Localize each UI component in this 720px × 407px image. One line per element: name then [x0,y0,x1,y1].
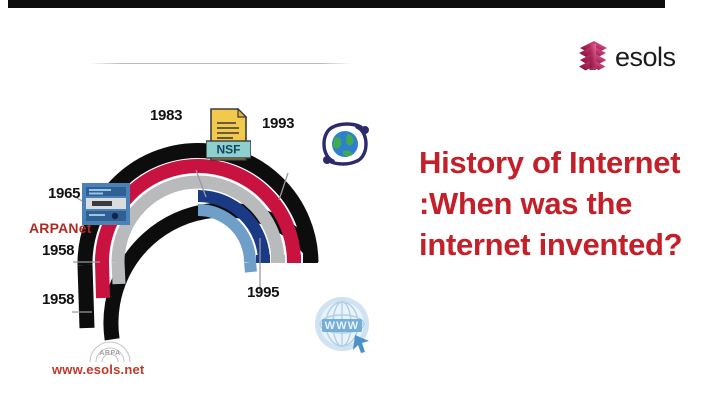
nsf-document-icon: NSF [206,108,251,166]
arpa-logo-icon: ARPA [80,340,140,366]
www-globe-icon: WWW [313,295,375,357]
arpa-label: ARPA [80,350,140,357]
page-title: History of Internet :When was the intern… [419,143,719,266]
milestone-year-1993: 1993 [262,116,294,131]
milestone-year-1995: 1995 [247,285,279,300]
svg-text:WWW: WWW [325,320,360,332]
server-rack-icon [82,183,130,225]
esols-s-mark-icon [576,39,610,75]
timeline-infographic: 1983 1993 1965 ARPANet 1958 1958 1995 [20,40,410,350]
esols-logo[interactable]: esols [576,36,706,78]
logo-wordmark: esols [615,44,676,71]
milestone-year-1983: 1983 [150,108,182,123]
globe-network-icon [319,118,371,170]
milestone-year-1965: 1965 [48,186,80,201]
slide-canvas: esols History of Internet :When was the … [0,0,720,407]
milestone-year-1958-arpanet: 1958 [42,243,74,258]
milestone-year-1958-arpa: 1958 [42,292,74,307]
svg-text:NSF: NSF [217,143,241,157]
